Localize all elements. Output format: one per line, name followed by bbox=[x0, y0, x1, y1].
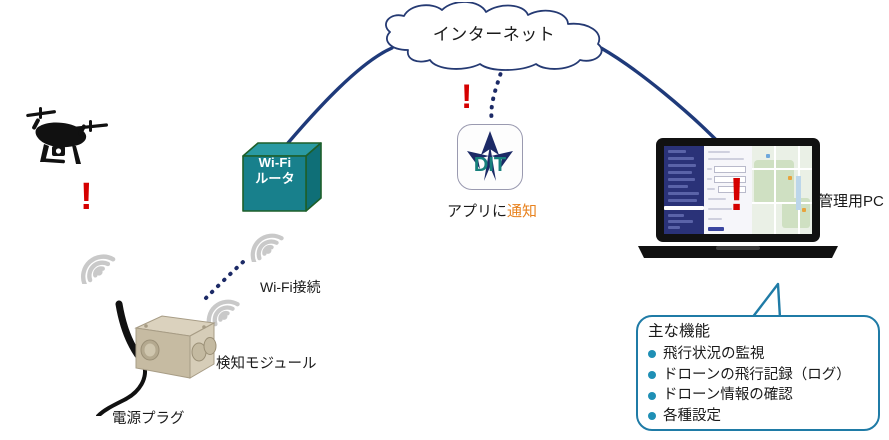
bullet-icon bbox=[648, 350, 656, 358]
wifi-router: Wi-Fi ルータ bbox=[240, 140, 324, 214]
detection-module bbox=[96, 296, 232, 416]
drone-silhouette bbox=[16, 104, 112, 172]
app-notify-label-prefix: アプリに bbox=[447, 203, 507, 220]
router-label-line2: ルータ bbox=[246, 171, 304, 187]
drone-alert-icon: ! bbox=[80, 182, 93, 213]
app-alert-icon: ! bbox=[461, 84, 472, 112]
diagram-canvas: インターネット bbox=[0, 0, 889, 440]
app-logo-text: DIT bbox=[474, 154, 506, 176]
router-label: Wi-Fi ルータ bbox=[246, 155, 304, 188]
feature-item: ドローンの飛行記録（ログ） bbox=[648, 365, 880, 386]
internet-cloud: インターネット bbox=[368, 2, 620, 72]
feature-label: 各種設定 bbox=[663, 406, 721, 427]
wifi-signal-drone-icon bbox=[70, 232, 128, 289]
feature-item: 飛行状況の監視 bbox=[648, 344, 880, 365]
module-shape bbox=[96, 296, 232, 416]
feature-item: 各種設定 bbox=[648, 406, 880, 427]
dashboard-sidebar bbox=[664, 146, 704, 234]
management-pc-label: 管理用PC bbox=[818, 190, 884, 211]
power-plug-label: 電源プラグ bbox=[112, 407, 185, 428]
bullet-icon bbox=[648, 371, 656, 379]
dashboard-map-panel bbox=[752, 146, 812, 234]
router-label-line1: Wi-Fi bbox=[246, 155, 304, 171]
feature-item: ドローン情報の確認 bbox=[648, 385, 880, 406]
dashboard-form-panel bbox=[704, 146, 752, 234]
wifi-signal-router-icon bbox=[240, 212, 296, 267]
drone-icon bbox=[16, 104, 112, 172]
app-logo-star-icon: DIT bbox=[458, 125, 522, 189]
cloud-label: インターネット bbox=[368, 20, 620, 45]
detection-module-label: 検知モジュール bbox=[216, 352, 316, 373]
feature-label: ドローンの飛行記録（ログ） bbox=[663, 365, 851, 386]
feature-label: 飛行状況の監視 bbox=[663, 344, 765, 365]
link-cloud-to-app-dotted bbox=[491, 66, 503, 122]
app-icon[interactable]: DIT bbox=[457, 124, 523, 190]
wifi-connection-label: Wi-Fi接続 bbox=[260, 277, 321, 297]
bullet-icon bbox=[648, 412, 656, 420]
callout-title: 主な機能 bbox=[648, 322, 880, 342]
app-notify-label: アプリに通知 bbox=[447, 200, 537, 221]
callout-content: 主な機能 飛行状況の監視 ドローンの飛行記録（ログ） ドローン情報の確認 各種設… bbox=[648, 322, 880, 426]
features-callout: 主な機能 飛行状況の監視 ドローンの飛行記録（ログ） ドローン情報の確認 各種設… bbox=[634, 282, 886, 434]
bullet-icon bbox=[648, 392, 656, 400]
app-notify-label-highlight: 通知 bbox=[507, 203, 537, 220]
feature-label: ドローン情報の確認 bbox=[663, 385, 793, 406]
pc-alert-icon: ! bbox=[729, 176, 744, 214]
